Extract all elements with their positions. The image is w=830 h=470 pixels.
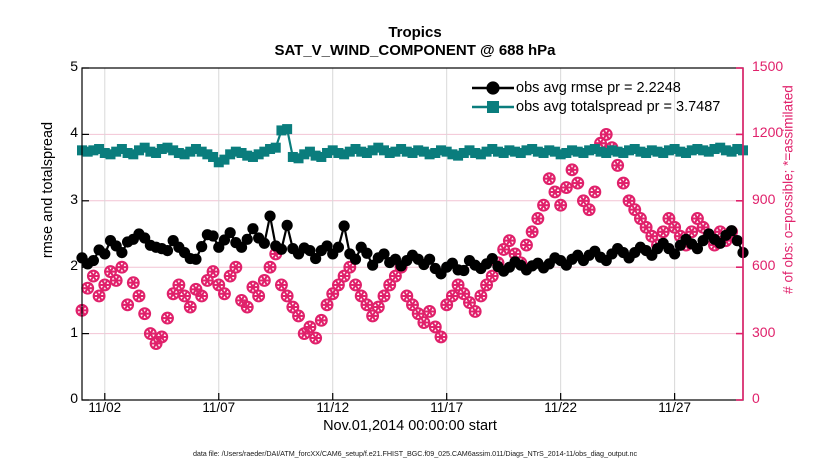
y-tick-label-left: 3 [44,191,78,207]
x-axis-label: Nov.01,2014 00:00:00 start [120,418,700,434]
legend-item[interactable]: obs avg totalspread pr = 3.7487 [470,97,750,116]
axis-frame [82,68,743,400]
y-tick-label-right: 600 [752,257,808,273]
chart-figure: Tropics SAT_V_WIND_COMPONENT @ 688 hPa r… [0,0,830,470]
legend-label: obs avg totalspread pr = 3.7487 [516,99,720,115]
legend-item[interactable]: obs avg rmse pr = 2.2248 [470,78,750,97]
y-tick-label-right: 900 [752,191,808,207]
y-tick-label-right: 1200 [752,124,808,140]
legend-square-marker-icon [470,97,516,116]
y-tick-label-right: 0 [752,390,808,406]
y-tick-label-right: 300 [752,324,808,340]
x-tick-label: 11/07 [184,400,254,415]
y-tick-label-left: 5 [44,58,78,74]
y-axis-label-right: # of obs: o=possible; *=assimilated [781,60,796,320]
y-tick-label-left: 4 [44,124,78,140]
legend-circle-marker-icon [470,78,516,97]
gridlines [82,68,743,400]
data-file-caption: data file: /Users/raeder/DAI/ATM_forcXX/… [0,449,830,458]
x-tick-label: 11/17 [412,400,482,415]
x-tick-label: 11/27 [640,400,710,415]
y-tick-label-left: 0 [44,390,78,406]
x-tick-label: 11/12 [298,400,368,415]
x-tick-label: 11/22 [526,400,596,415]
series-layer [76,124,749,349]
tick-marks [82,68,743,400]
legend-label: obs avg rmse pr = 2.2248 [516,80,681,96]
x-tick-label: 11/02 [70,400,140,415]
chart-legend: obs avg rmse pr = 2.2248obs avg totalspr… [470,78,750,116]
y-tick-label-left: 1 [44,324,78,340]
y-tick-label-right: 1500 [752,58,808,74]
y-tick-label-left: 2 [44,257,78,273]
